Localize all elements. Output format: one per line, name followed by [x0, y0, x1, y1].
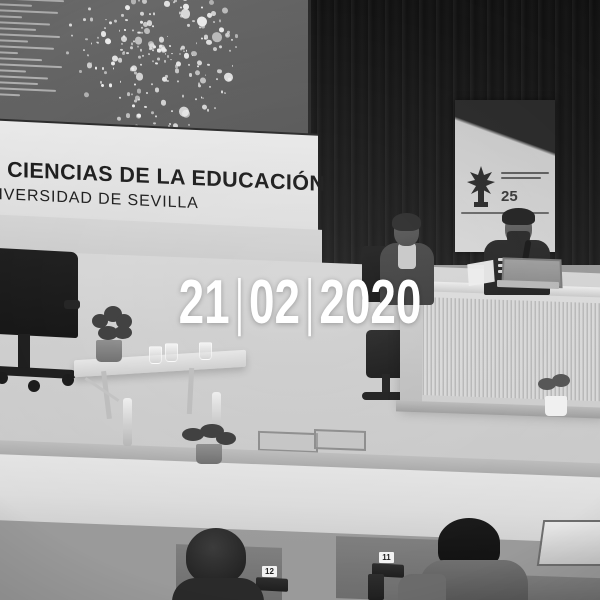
seat-number-12: 12 — [262, 566, 277, 577]
date-day: 21 — [179, 272, 230, 334]
plant-leaf — [216, 432, 236, 445]
water-glass — [149, 346, 162, 364]
date-separator-1: | — [235, 272, 243, 334]
audience-member-arm — [398, 574, 446, 600]
water-bottle — [123, 398, 132, 446]
date-overlay: 21 | 02 | 2020 — [78, 268, 522, 338]
speaker-woman-scarf — [398, 243, 416, 269]
seat-number-11: 11 — [379, 552, 394, 563]
floor-hatch — [314, 429, 366, 451]
chair-caster — [62, 374, 74, 386]
stage-curtain-right — [300, 0, 600, 265]
date-separator-2: | — [305, 272, 313, 334]
date-year: 2020 — [319, 272, 421, 334]
floor-plant-pot — [196, 444, 222, 464]
audience-member-head — [186, 528, 246, 584]
plant-pot — [96, 340, 122, 362]
water-glass — [199, 342, 212, 360]
banner-headline-text — [501, 172, 551, 182]
desk-device — [368, 574, 384, 600]
projection-slide-text — [0, 0, 66, 102]
date-month: 02 — [249, 272, 300, 334]
audience-monitor — [537, 520, 600, 566]
chair-caster — [28, 380, 40, 392]
audience-member-body — [172, 578, 264, 600]
water-glass — [165, 343, 178, 362]
small-plant-pot — [545, 396, 567, 416]
crest-icon — [464, 162, 498, 210]
office-chair — [0, 248, 78, 338]
photo-frame: E CIENCIAS DE LA EDUCACIÓN NIVERSIDAD DE… — [0, 0, 600, 600]
speaker-woman-hair — [392, 213, 421, 231]
plant-leaf — [552, 374, 570, 387]
banner-anniversary-number: 25 — [501, 188, 518, 205]
speaker-man-hair — [502, 208, 535, 225]
